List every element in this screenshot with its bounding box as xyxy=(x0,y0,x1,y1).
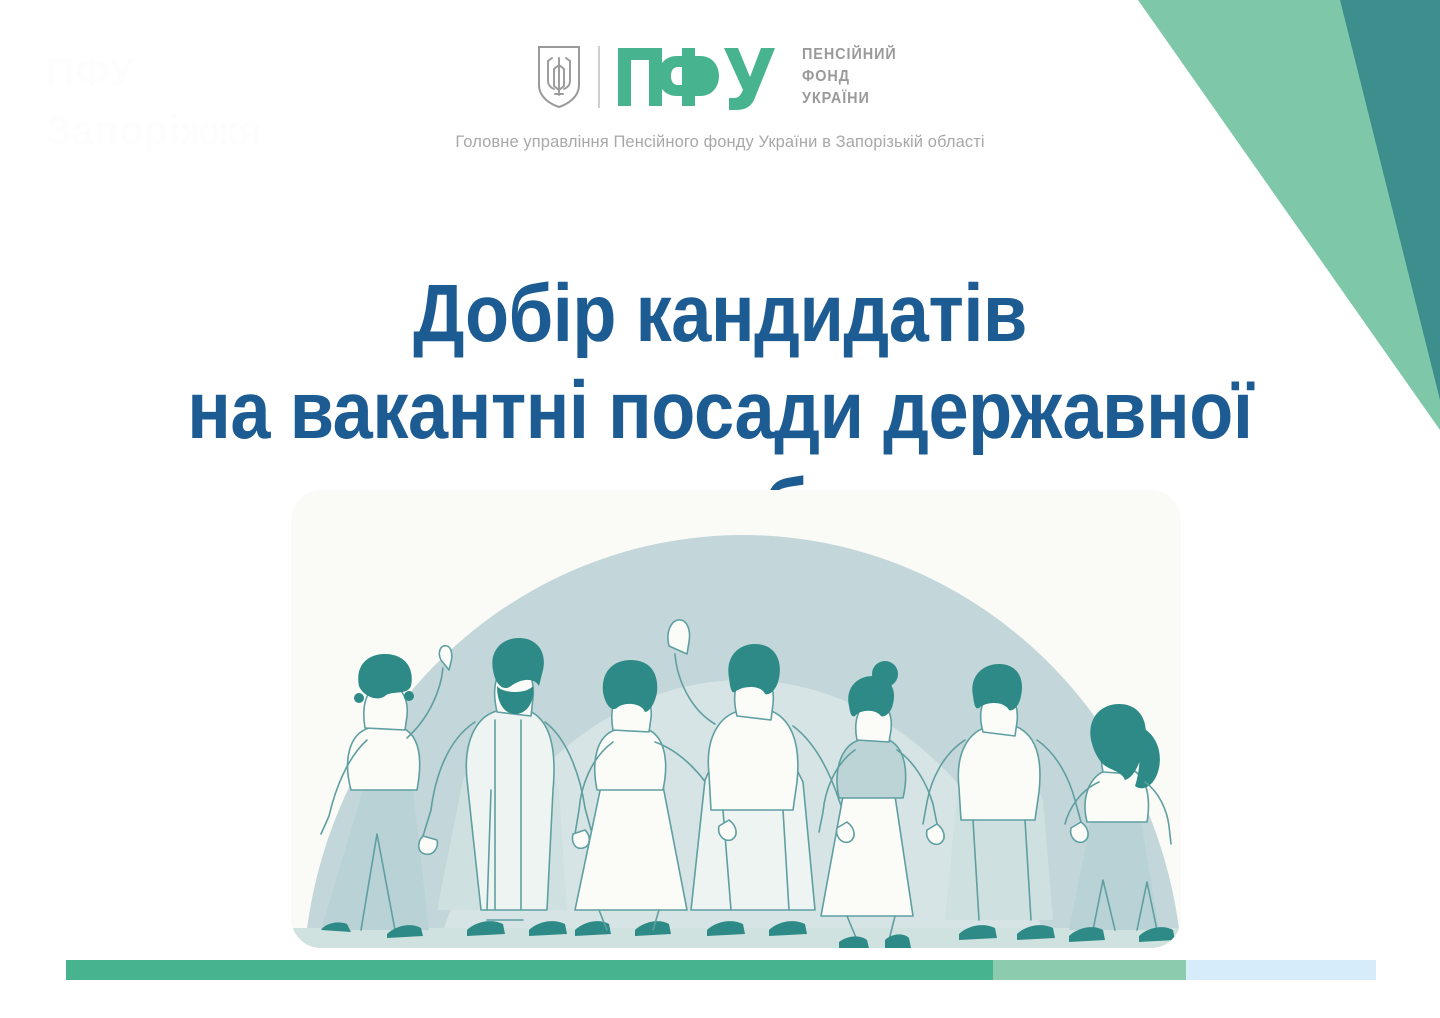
bar-segment-light-blue xyxy=(1186,960,1376,980)
bottom-color-bar xyxy=(66,960,1376,980)
bar-segment-green xyxy=(66,960,993,980)
pfu-wordmark-icon xyxy=(616,44,786,110)
header: ПЕНСІЙНИЙ ФОНД УКРАЇНИ Головне управлінн… xyxy=(0,38,1440,152)
pfu-full-name: ПЕНСІЙНИЙ ФОНД УКРАЇНИ xyxy=(802,44,897,110)
page-title-line-1: Добір кандидатів xyxy=(86,266,1353,363)
pfu-name-line-1: ПЕНСІЙНИЙ xyxy=(802,44,897,66)
organization-subtitle: Головне управління Пенсійного фонду Укра… xyxy=(455,133,984,152)
pfu-name-line-3: УКРАЇНИ xyxy=(802,88,897,110)
people-holding-hands-illustration xyxy=(291,490,1181,948)
logo-divider xyxy=(598,46,600,108)
ukraine-trident-emblem-icon xyxy=(536,45,582,109)
pfu-name-line-2: ФОНД xyxy=(802,66,897,88)
bar-segment-light-green xyxy=(993,960,1186,980)
banner-canvas: ПФУ Запоріжжя xyxy=(0,0,1440,1018)
logo-row: ПЕНСІЙНИЙ ФОНД УКРАЇНИ xyxy=(536,38,903,116)
